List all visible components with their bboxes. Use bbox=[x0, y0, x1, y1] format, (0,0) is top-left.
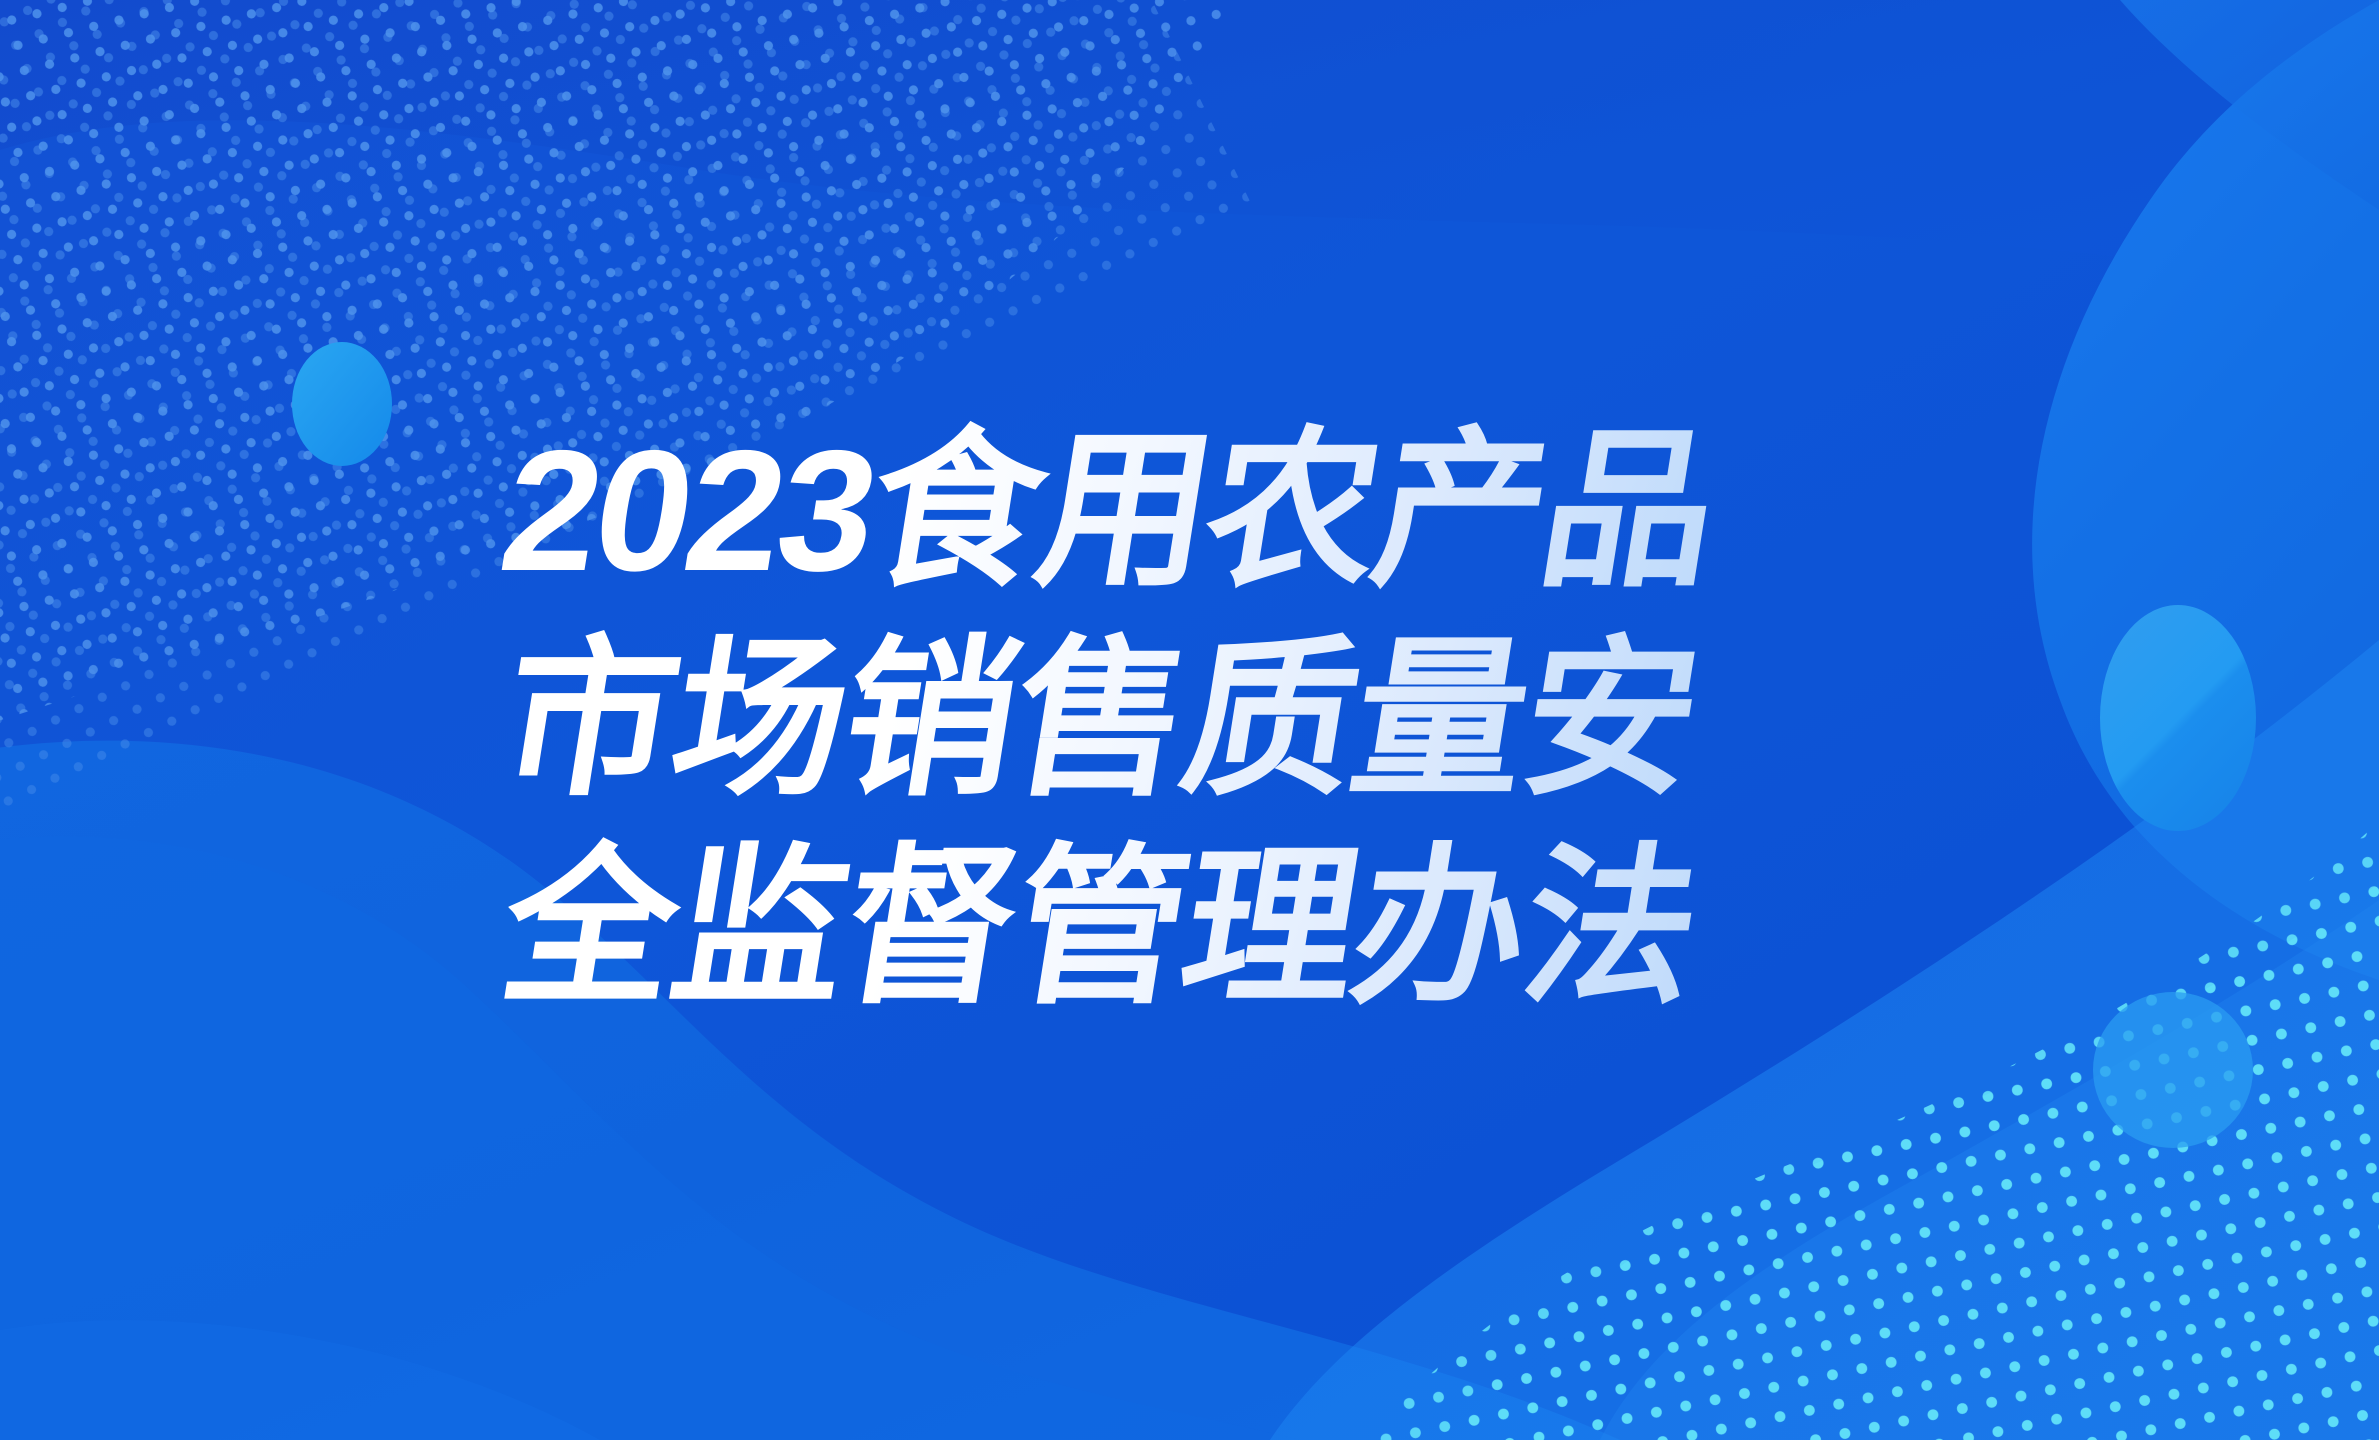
poster-canvas: 2023食用农产品 市场销售质量安 全监督管理办法 bbox=[0, 0, 2379, 1440]
poster-title-block: 2023食用农产品 市场销售质量安 全监督管理办法 bbox=[0, 0, 2379, 1440]
title-line-1: 2023食用农产品 bbox=[488, 410, 1920, 613]
title-line-3: 全监督管理办法 bbox=[488, 827, 1920, 1030]
title-line-2: 市场销售质量安 bbox=[488, 619, 1920, 822]
poster-title: 2023食用农产品 市场销售质量安 全监督管理办法 bbox=[505, 410, 1905, 1031]
